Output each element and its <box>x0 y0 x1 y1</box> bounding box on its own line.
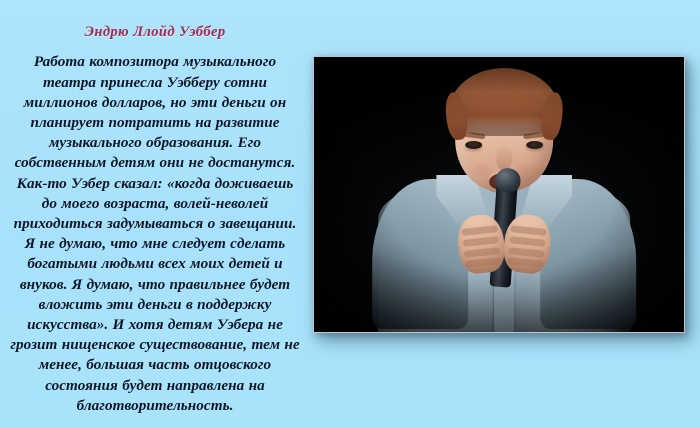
page-title: Эндрю Ллойд Уэббер <box>4 24 306 41</box>
article-body-text: Работа композитора музыкального театра п… <box>4 52 306 416</box>
eye-right <box>465 141 482 149</box>
finger <box>464 247 501 258</box>
finger <box>462 225 499 236</box>
finger <box>507 257 544 268</box>
photo-subject-person <box>374 57 634 332</box>
hair <box>449 68 559 136</box>
finger <box>510 225 547 236</box>
eye-left <box>526 141 543 149</box>
article-text-column: Эндрю Ллойд Уэббер Работа композитора му… <box>4 24 306 416</box>
portrait-photo <box>313 56 685 333</box>
page-root: Эндрю Ллойд Уэббер Работа композитора му… <box>0 0 700 427</box>
finger <box>509 236 546 247</box>
finger <box>463 236 500 247</box>
photo-stage-background <box>314 57 684 332</box>
finger <box>508 247 545 258</box>
finger <box>465 257 502 268</box>
microphone-head <box>494 167 521 193</box>
